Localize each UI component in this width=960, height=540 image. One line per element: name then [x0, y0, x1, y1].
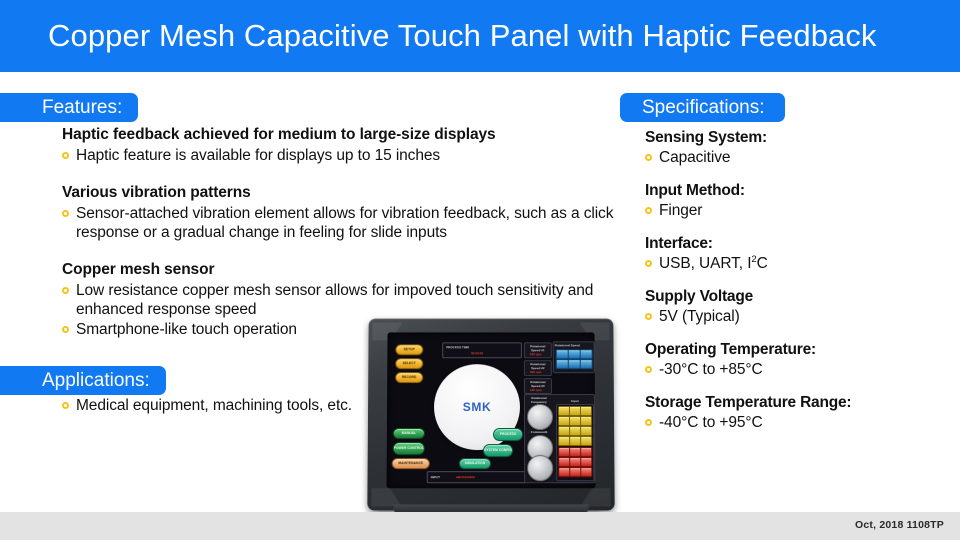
- features-badge-label: Features:: [42, 93, 122, 122]
- bullet-dot-icon: [645, 419, 652, 426]
- screen-button-simulation[interactable]: SIMULATION: [459, 458, 491, 469]
- screen-button-select[interactable]: SELECT: [395, 358, 423, 369]
- screen-button-setup[interactable]: SETUP: [395, 344, 423, 355]
- control-panel: Rotational Frequency Input Command1 Comm…: [524, 394, 595, 483]
- bullet-dot-icon: [645, 154, 652, 161]
- bullet-dot-icon: [62, 210, 69, 217]
- spec-value: -30°C to +85°C: [659, 361, 763, 378]
- screen-button-maintenance[interactable]: MAINTENANCE: [392, 458, 430, 469]
- spec-value-row: Capacitive: [645, 148, 955, 168]
- spec-value-row: USB, UART, I2C: [645, 254, 955, 274]
- bullet-dot-icon: [645, 207, 652, 214]
- footer-text: Oct, 2018 1108TP: [855, 519, 944, 531]
- smk-logo: SMK: [434, 400, 520, 414]
- rotational-frequency-label: Rotational Frequency: [526, 396, 552, 404]
- rotational-speed-panel-label: Rotational Speed: [555, 343, 593, 347]
- rotational-speed-panel: Rotational Speed: [553, 341, 595, 373]
- bullet-dot-icon: [645, 313, 652, 320]
- title-banner: Copper Mesh Capacitive Touch Panel with …: [0, 0, 960, 72]
- spec-group: Input Method: Finger: [645, 181, 955, 221]
- input-btn[interactable]: [580, 467, 592, 477]
- spec-label: Sensing System:: [645, 128, 955, 148]
- command-1-label: Command1: [526, 430, 552, 434]
- input-btn[interactable]: [580, 436, 592, 446]
- speed-btn[interactable]: [580, 349, 593, 359]
- bullet-dot-icon: [645, 366, 652, 373]
- process-time-value: 00:00:00: [471, 351, 483, 355]
- spec-value: 5V (Typical): [659, 308, 740, 325]
- screen-button-power-control[interactable]: POWER CONTROL: [393, 442, 425, 455]
- screen-button-manual[interactable]: MANUAL: [393, 428, 425, 439]
- rotational-speed-3-label: Rotational Speed #3: [526, 380, 550, 388]
- feature-heading: Haptic feedback achieved for medium to l…: [62, 125, 622, 145]
- rotational-speed-1-label: Rotational Speed #1: [526, 344, 550, 352]
- input-btn[interactable]: [580, 426, 592, 436]
- application-bullet: Medical equipment, machining tools, etc.: [62, 396, 362, 416]
- rotational-speed-3-value: 120 rpm: [530, 388, 542, 392]
- input-btn[interactable]: [580, 416, 592, 426]
- input-label: INPUT: [431, 475, 440, 479]
- spec-label: Input Method:: [645, 181, 955, 201]
- slide-root: Copper Mesh Capacitive Touch Panel with …: [0, 0, 960, 540]
- rotational-speed-2-label: Rotational Speed #2: [526, 362, 550, 370]
- feature-bullet: Haptic feature is available for displays…: [62, 146, 622, 166]
- applications-content: Medical equipment, machining tools, etc.: [62, 396, 362, 416]
- device-bezel: SMK PROCESS TIME 00:00:00 INPUT ABCD1234…: [367, 319, 614, 511]
- feature-heading: Various vibration patterns: [62, 183, 622, 203]
- rotational-speed-2-value: 300 rpm: [530, 370, 541, 374]
- input-btn[interactable]: [580, 406, 592, 416]
- feature-bullet: Sensor-attached vibration element allows…: [62, 204, 622, 243]
- bullet-dot-icon: [62, 287, 69, 294]
- application-bullet-text: Medical equipment, machining tools, etc.: [76, 397, 352, 414]
- specifications-badge-label: Specifications:: [642, 93, 765, 122]
- applications-badge-label: Applications:: [42, 366, 150, 395]
- spec-value-row: 5V (Typical): [645, 307, 955, 327]
- input-btn[interactable]: [580, 457, 592, 467]
- footer-band: [0, 512, 960, 540]
- feature-bullet-text: Sensor-attached vibration element allows…: [76, 205, 613, 242]
- spec-value: USB, UART, I2C: [659, 255, 768, 272]
- spec-group: Sensing System: Capacitive: [645, 128, 955, 168]
- applications-section-badge: Applications:: [0, 366, 166, 395]
- product-photo-touch-panel: SMK PROCESS TIME 00:00:00 INPUT ABCD1234…: [360, 318, 622, 518]
- spec-group: Storage Temperature Range: -40°C to +95°…: [645, 393, 955, 433]
- spec-group: Operating Temperature: -30°C to +85°C: [645, 340, 955, 380]
- spec-group: Interface: USB, UART, I2C: [645, 234, 955, 274]
- spec-label: Operating Temperature:: [645, 340, 955, 360]
- spec-value-row: Finger: [645, 201, 955, 221]
- spec-value-row: -30°C to +85°C: [645, 360, 955, 380]
- rotational-speed-1-value: 150 rpm: [530, 352, 541, 356]
- bullet-dot-icon: [62, 152, 69, 159]
- spec-value: Capacitive: [659, 149, 730, 166]
- specifications-section-badge: Specifications:: [620, 93, 785, 122]
- feature-group: Haptic feedback achieved for medium to l…: [62, 125, 622, 166]
- input-button-grid: [556, 404, 594, 481]
- rotational-speed-2-box: Rotational Speed #2 300 rpm: [524, 360, 552, 376]
- features-section-badge: Features:: [0, 93, 138, 122]
- input-readout: INPUT ABCD123456: [427, 471, 527, 483]
- spec-value: -40°C to +95°C: [659, 414, 763, 431]
- spec-group: Supply Voltage 5V (Typical): [645, 287, 955, 327]
- spec-value-row: -40°C to +95°C: [645, 413, 955, 433]
- input-value: ABCD123456: [456, 475, 475, 479]
- bullet-dot-icon: [62, 326, 69, 333]
- feature-bullet: Low resistance copper mesh sensor allows…: [62, 281, 622, 320]
- feature-bullet-text: Smartphone-like touch operation: [76, 321, 297, 338]
- speed-btn[interactable]: [580, 359, 593, 369]
- spec-label: Storage Temperature Range:: [645, 393, 955, 413]
- screen-button-process-monitor[interactable]: PROCESS MONITOR: [493, 428, 523, 441]
- spec-label: Supply Voltage: [645, 287, 955, 307]
- device-screen: SMK PROCESS TIME 00:00:00 INPUT ABCD1234…: [387, 332, 596, 488]
- feature-group: Various vibration patterns Sensor-attach…: [62, 183, 622, 243]
- screen-button-system-config[interactable]: SYSTEM CONFIG: [483, 444, 513, 457]
- process-time-label: PROCESS TIME: [446, 345, 469, 349]
- page-title: Copper Mesh Capacitive Touch Panel with …: [48, 17, 877, 55]
- specifications-content: Sensing System: Capacitive Input Method:…: [645, 128, 955, 446]
- spec-label: Interface:: [645, 234, 955, 254]
- screen-button-record[interactable]: RECORD: [395, 372, 423, 383]
- bullet-dot-icon: [645, 260, 652, 267]
- bullet-dot-icon: [62, 402, 69, 409]
- rotational-frequency-knob[interactable]: [527, 404, 553, 430]
- rotational-speed-1-box: Rotational Speed #1 150 rpm: [524, 342, 552, 358]
- feature-heading: Copper mesh sensor: [62, 260, 622, 280]
- feature-bullet-text: Low resistance copper mesh sensor allows…: [76, 282, 593, 319]
- spec-value: Finger: [659, 202, 702, 219]
- feature-bullet-text: Haptic feature is available for displays…: [76, 147, 440, 164]
- input-btn[interactable]: [580, 447, 592, 457]
- process-time-readout: PROCESS TIME 00:00:00: [442, 342, 522, 358]
- command-2-knob[interactable]: [527, 455, 553, 481]
- rotational-speed-3-box: Rotational Speed #3 120 rpm: [524, 378, 552, 394]
- input-panel-label: Input: [559, 399, 591, 403]
